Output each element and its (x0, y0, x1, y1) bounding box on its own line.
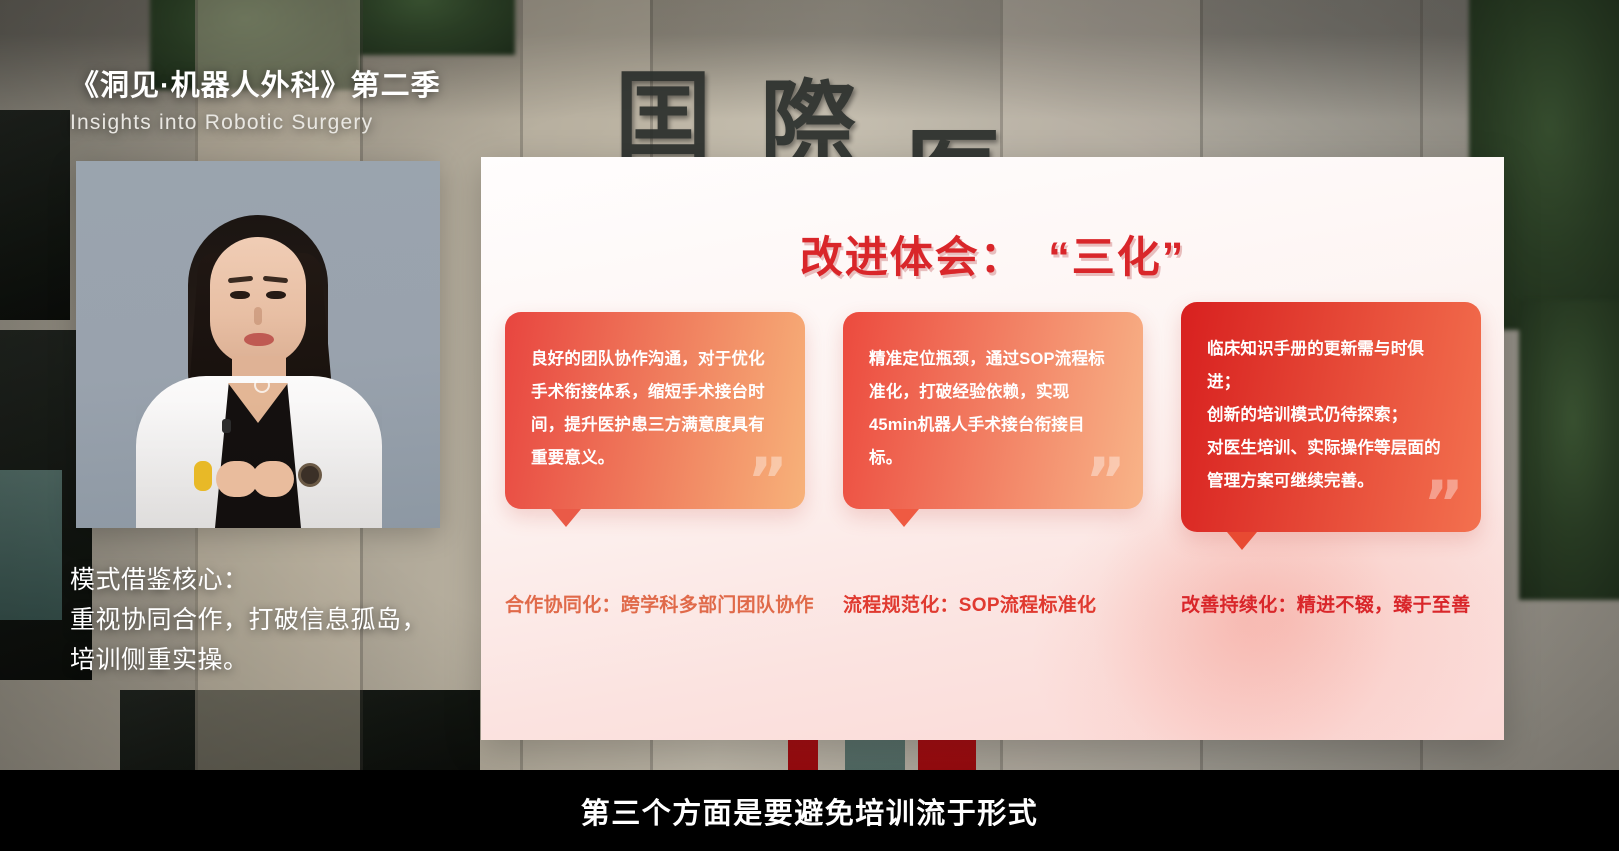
program-title-cn: 《洞见·机器人外科》第二季 (70, 62, 441, 104)
left-summary-line-2: 重视协同合作，打破信息孤岛， (70, 600, 427, 640)
insight-card-3-wrap: 临床知识手册的更新需与时俱进； 创新的培训模式仍待探索； 对医生培训、实际操作等… (1181, 302, 1481, 532)
presenter-nose (254, 307, 262, 325)
insight-card-2[interactable]: 精准定位瓶颈，通过SOP流程标准化，打破经验依赖，实现45min机器人手术接台衔… (843, 312, 1143, 509)
presenter-hand-right (252, 461, 294, 497)
left-summary-text: 模式借鉴核心： 重视协同合作，打破信息孤岛， 培训侧重实操。 (70, 560, 427, 680)
insight-card-3[interactable]: 临床知识手册的更新需与时俱进； 创新的培训模式仍待探索； 对医生培训、实际操作等… (1181, 302, 1481, 532)
insight-card-1-caption: 合作协同化：跨学科多部门团队协作 (505, 590, 814, 617)
program-title-en: Insights into Robotic Surgery (70, 111, 441, 135)
left-summary-line-1: 模式借鉴核心： (70, 560, 427, 600)
lapel-mic-icon (222, 419, 231, 433)
program-title: 《洞见·机器人外科》第二季 Insights into Robotic Surg… (70, 62, 441, 135)
insight-card-3-text: 临床知识手册的更新需与时俱进； 创新的培训模式仍待探索； 对医生培训、实际操作等… (1207, 333, 1455, 498)
insight-card-2-caption: 流程规范化：SOP流程标准化 (843, 590, 1096, 617)
insight-card-1-wrap: 良好的团队协作沟通，对于优化手术衔接体系，缩短手术接台时间，提升医护患三方满意度… (505, 312, 805, 509)
subtitle-text: 第三个方面是要避免培训流于形式 (581, 790, 1039, 832)
slide-panel: 改进体会： “三化” 良好的团队协作沟通，对于优化手术衔接体系，缩短手术接台时间… (481, 157, 1504, 740)
left-summary-line-3: 培训侧重实操。 (70, 640, 427, 680)
presenter-mouth (244, 333, 274, 346)
insight-card-1-text: 良好的团队协作沟通，对于优化手术衔接体系，缩短手术接台时间，提升医护患三方满意度… (531, 343, 779, 475)
presenter-video (76, 161, 440, 528)
presenter-eye-left (230, 291, 250, 299)
insight-card-2-tail (889, 509, 919, 527)
insight-card-3-caption: 改善持续化：精进不辍，臻于至善 (1181, 590, 1471, 617)
insight-card-2-wrap: 精准定位瓶颈，通过SOP流程标准化，打破经验依赖，实现45min机器人手术接台衔… (843, 312, 1143, 509)
insight-card-1-tail (551, 509, 581, 527)
subtitle-bar: 第三个方面是要避免培训流于形式 (0, 770, 1619, 851)
presenter-necklace (254, 377, 270, 393)
presenter-watch (298, 463, 322, 487)
presenter-eye-right (266, 291, 286, 299)
insight-card-2-text: 精准定位瓶颈，通过SOP流程标准化，打破经验依赖，实现45min机器人手术接台衔… (869, 343, 1117, 475)
slide-title: 改进体会： “三化” (481, 223, 1504, 285)
presenter-bracelet (194, 461, 212, 491)
insight-card-1[interactable]: 良好的团队协作沟通，对于优化手术衔接体系，缩短手术接台时间，提升医护患三方满意度… (505, 312, 805, 509)
insight-card-row: 良好的团队协作沟通，对于优化手术衔接体系，缩短手术接台时间，提升医护患三方满意度… (481, 312, 1504, 572)
insight-card-3-tail (1227, 532, 1257, 550)
